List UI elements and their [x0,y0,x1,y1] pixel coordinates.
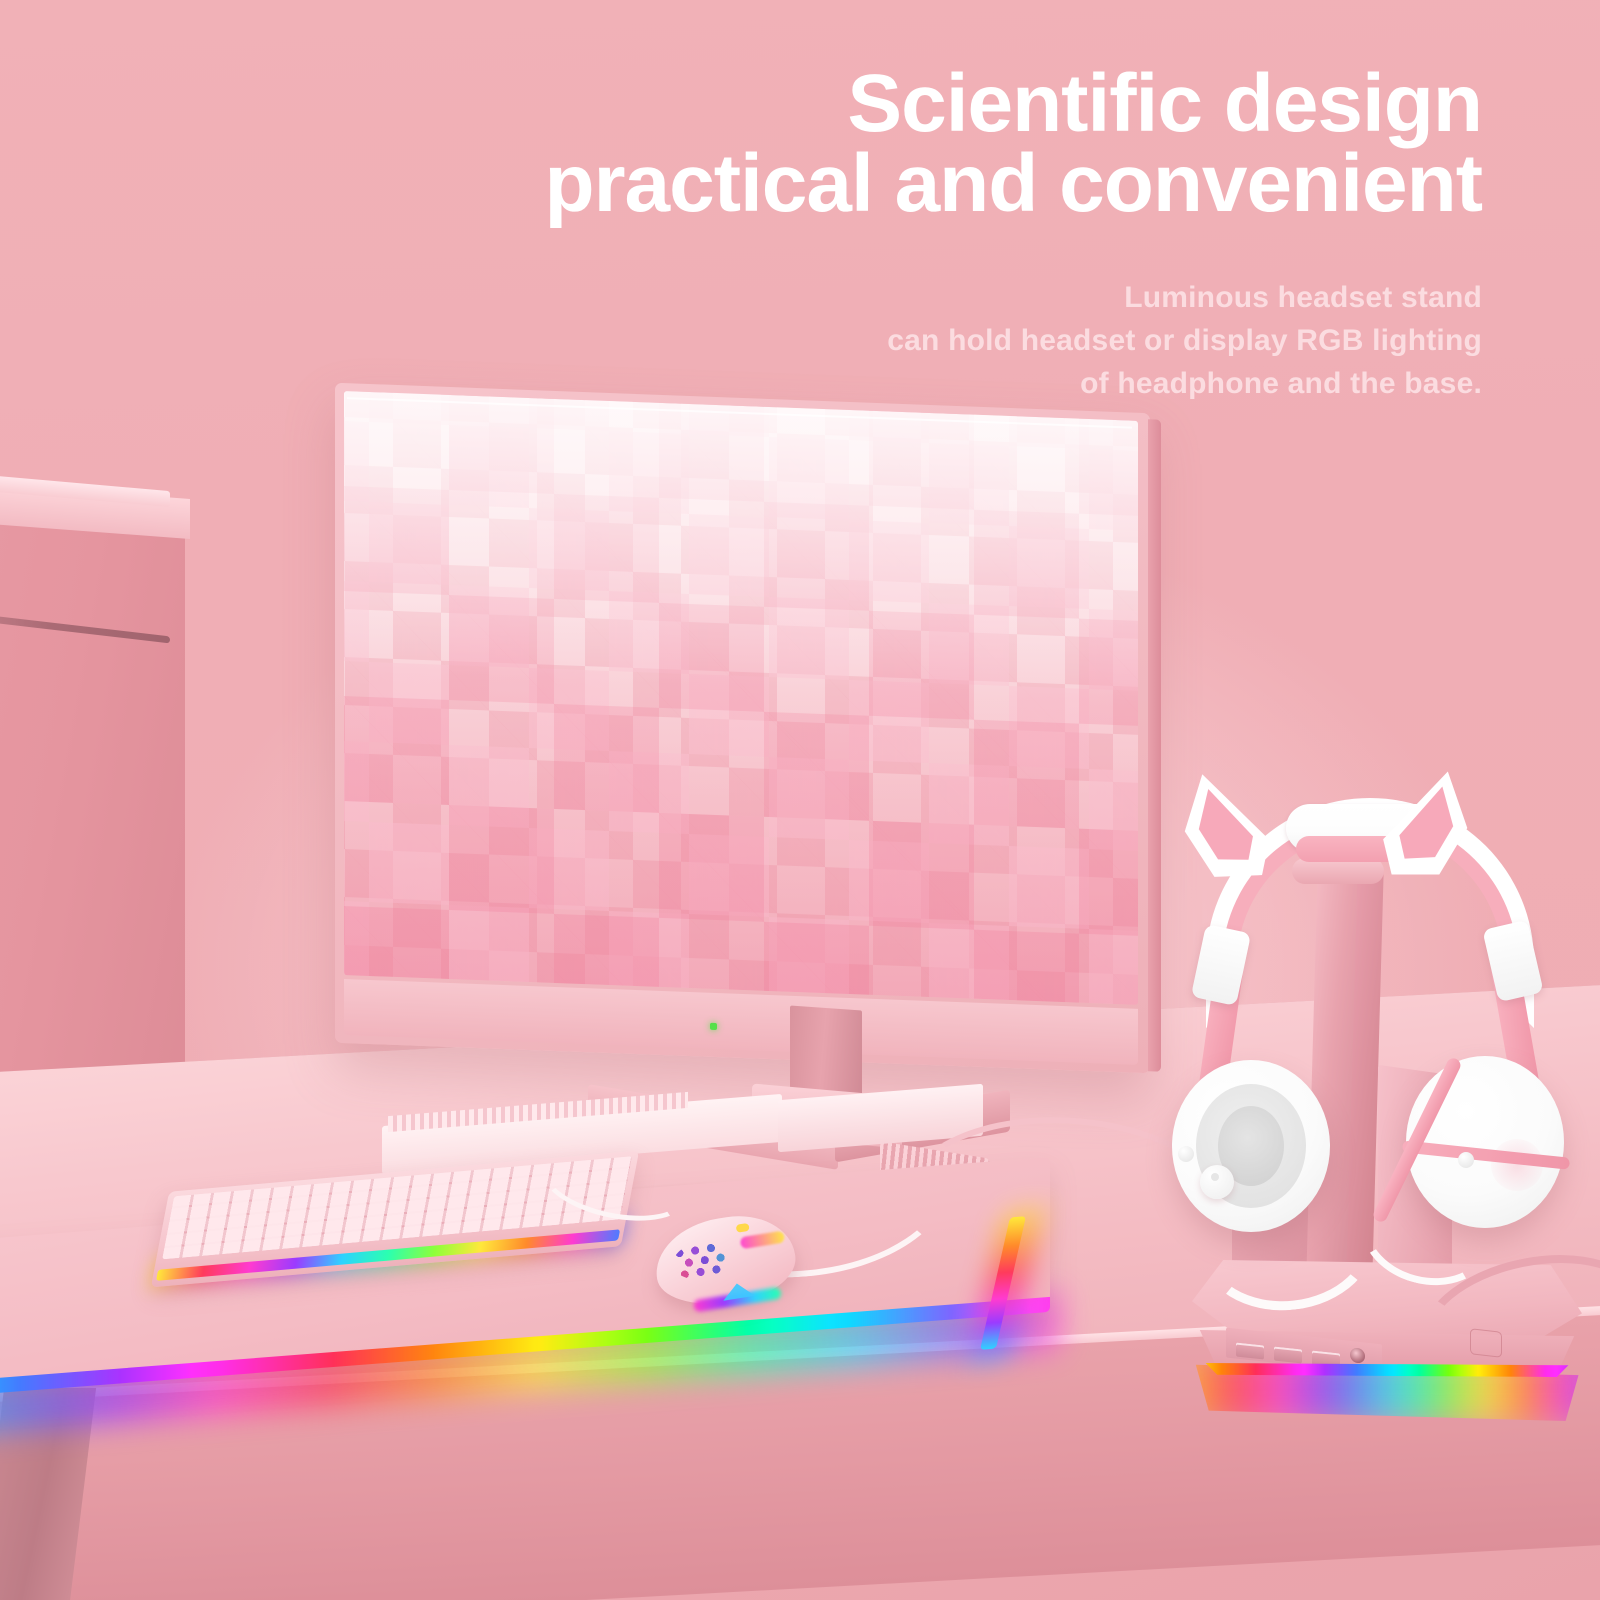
earcup-left-pivot-pin [1178,1146,1194,1162]
subtitle-line-2: can hold headset or display RGB lighting [582,319,1482,362]
monitor-power-led [710,1023,717,1030]
earcup-right-pink-band [1402,1140,1570,1169]
microphone-vent [1211,1173,1219,1181]
subtitle-line-1: Luminous headset stand [582,276,1482,319]
usb-port-1[interactable] [1236,1342,1264,1359]
pc-tower-front-panel [0,493,185,1137]
screen-gradient-overlay [344,391,1138,1005]
monitor-screen[interactable] [344,391,1138,1005]
headset-brand-logo [1491,1139,1543,1191]
earcup-right-pivot-pin [1458,1152,1474,1168]
gaming-monitor [335,383,1150,1074]
cat-ear-headset [1150,760,1600,1220]
page-title: Scientific design practical and convenie… [282,64,1482,223]
subtitle-line-3: of headphone and the base. [582,362,1482,405]
product-scene: Scientific design practical and convenie… [0,0,1600,1600]
title-line-2: practical and convenient [282,144,1482,224]
page-subtitle: Luminous headset stand can hold headset … [582,276,1482,406]
usb-port-2[interactable] [1274,1346,1302,1363]
title-line-1: Scientific design [282,64,1482,144]
microphone-icon [1200,1165,1234,1199]
